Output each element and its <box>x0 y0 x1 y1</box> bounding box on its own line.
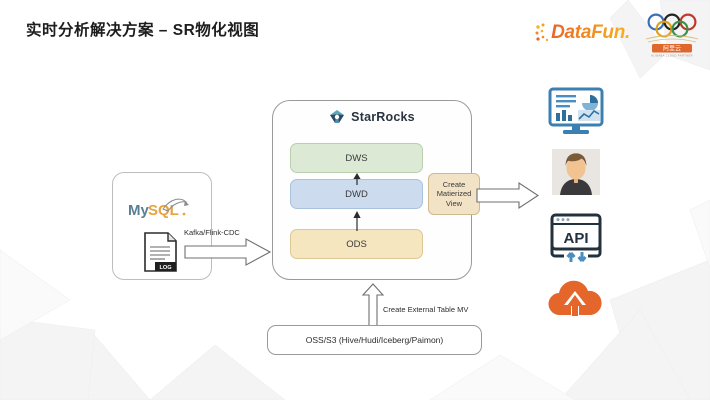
datafun-logo: DataFun. <box>535 18 630 48</box>
mv-line-1: Create <box>443 180 466 189</box>
user-avatar-icon <box>552 149 600 195</box>
mv-line-2: Matierized <box>437 189 472 198</box>
datafun-dots-icon <box>535 22 551 44</box>
partner-name-label: 阿里云 <box>663 45 681 53</box>
consumer-superset <box>540 275 612 327</box>
starrocks-brand: StarRocks <box>273 109 471 125</box>
api-window-icon: API <box>544 212 608 264</box>
ingest-block-arrow-icon <box>184 238 272 268</box>
starrocks-logo <box>329 109 345 125</box>
superset-cloud-icon <box>544 275 608 323</box>
layer-ods: ODS <box>290 229 423 259</box>
consumer-icons: API <box>540 86 616 338</box>
materialized-view-box: Create Matierized View <box>428 173 480 215</box>
api-label: API <box>563 230 588 247</box>
layer-dws: DWS <box>290 143 423 173</box>
bi-dashboard-icon <box>544 86 608 136</box>
starrocks-wordmark: StarRocks <box>351 110 415 124</box>
lake-to-starrocks-arrow-icon <box>362 283 384 327</box>
consumer-bi-dashboard <box>540 86 612 138</box>
lake-storage-node: OSS/S3 (Hive/Hudi/Iceberg/Paimon) <box>267 325 482 355</box>
brand-logos: DataFun. 阿里云 ALIBABA CLOUD PARTNER <box>535 8 704 58</box>
arrow-ods-to-dwd-icon <box>351 211 363 231</box>
arrow-dwd-to-dws-icon <box>351 173 363 185</box>
output-block-arrow-icon <box>476 182 540 210</box>
log-file-label: LOG <box>159 265 171 271</box>
external-table-edge-label: Create External Table MV <box>383 305 468 314</box>
page-title: 实时分析解决方案 – SR物化视图 <box>26 18 259 40</box>
svg-text:My: My <box>128 202 149 219</box>
datafun-wordmark: DataFun. <box>551 22 630 44</box>
consumer-user <box>540 149 612 201</box>
ingest-edge-label: Kafka/Flink-CDC <box>184 228 240 237</box>
svg-text:ALIBABA CLOUD PARTNER: ALIBABA CLOUD PARTNER <box>651 54 693 58</box>
olympic-rings-logo: 阿里云 ALIBABA CLOUD PARTNER <box>640 8 704 58</box>
starrocks-container: StarRocks DWS DWD ODS Create Matierized … <box>272 100 472 280</box>
consumer-api: API <box>540 212 612 264</box>
mysql-dolphin-icon: My SQL <box>127 195 199 225</box>
log-file-icon: LOG <box>141 231 181 273</box>
mv-line-3: View <box>446 199 462 208</box>
